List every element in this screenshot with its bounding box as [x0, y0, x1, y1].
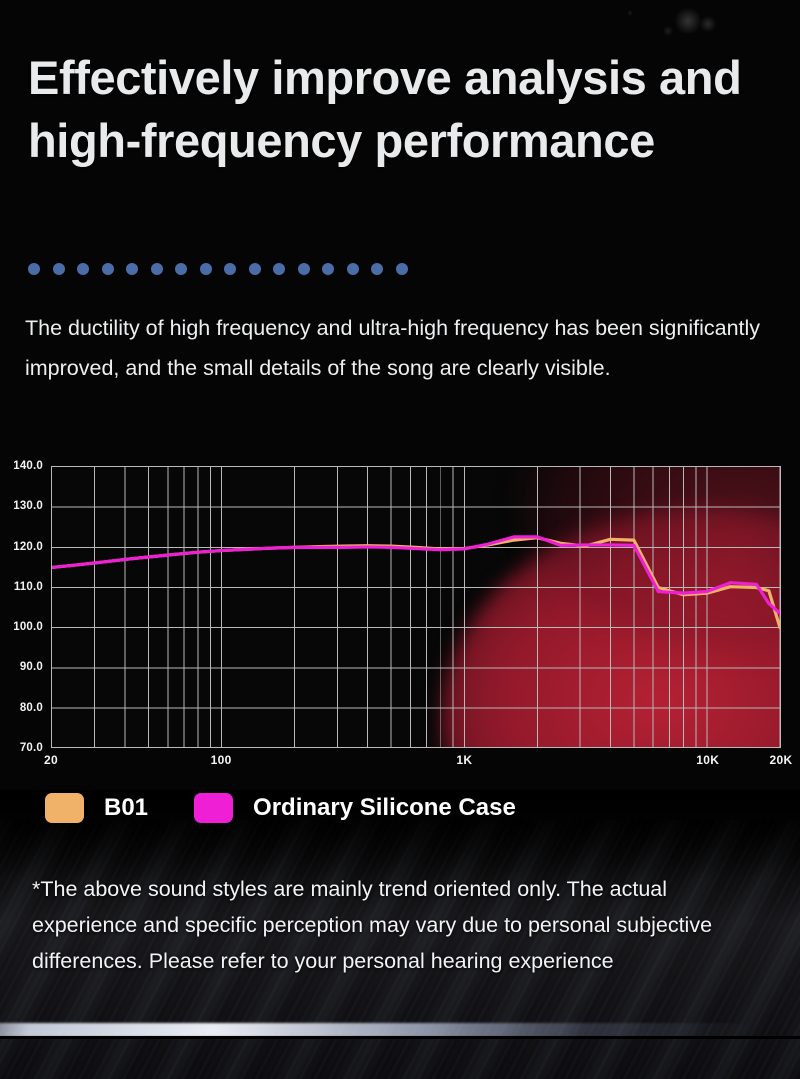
x-axis-tick-label: 10K — [696, 753, 719, 767]
dot-divider — [28, 263, 408, 275]
x-axis-tick-label: 1K — [456, 753, 472, 767]
page-title: Effectively improve analysis and high-fr… — [28, 46, 773, 172]
bokeh-light-icon — [700, 16, 716, 32]
x-axis-tick-label: 20 — [44, 753, 58, 767]
legend-label: Ordinary Silicone Case — [253, 794, 516, 822]
bokeh-light-icon — [663, 26, 673, 36]
divider-dot — [200, 263, 212, 275]
legend-item: Ordinary Silicone Case — [194, 793, 516, 823]
divider-dot — [53, 263, 65, 275]
legend-label: B01 — [104, 794, 148, 822]
divider-dot — [102, 263, 114, 275]
intro-paragraph: The ductility of high frequency and ultr… — [25, 308, 780, 388]
divider-dot — [298, 263, 310, 275]
legend-swatch-ordinary-silicone-case — [194, 793, 233, 823]
frequency-response-chart: 140.0130.0120.0110.0100.090.080.070.0 20… — [0, 450, 800, 780]
series-line-b01 — [52, 538, 780, 628]
divider-dot — [28, 263, 40, 275]
y-axis-tick-label: 70.0 — [0, 742, 43, 754]
divider-dot — [224, 263, 236, 275]
y-axis-tick-label: 80.0 — [0, 702, 43, 714]
divider-dot — [175, 263, 187, 275]
bottom-light-streak — [0, 1023, 800, 1037]
divider-dot — [322, 263, 334, 275]
divider-dot — [151, 263, 163, 275]
divider-dot — [347, 263, 359, 275]
chart-legend: B01Ordinary Silicone Case — [45, 793, 516, 823]
divider-dot — [126, 263, 138, 275]
chart-series-lines — [52, 467, 780, 748]
x-axis-tick-label: 20K — [770, 753, 793, 767]
divider-dot — [249, 263, 261, 275]
legend-item: B01 — [45, 793, 148, 823]
x-axis-tick-label: 100 — [211, 753, 232, 767]
y-axis-tick-label: 110.0 — [0, 581, 43, 593]
y-axis-tick-label: 100.0 — [0, 621, 43, 633]
y-axis-tick-label: 120.0 — [0, 541, 43, 553]
y-axis-tick-label: 130.0 — [0, 500, 43, 512]
bokeh-light-icon — [627, 10, 633, 16]
divider-dot — [371, 263, 383, 275]
divider-dot — [273, 263, 285, 275]
divider-dot — [77, 263, 89, 275]
y-axis-tick-label: 90.0 — [0, 661, 43, 673]
legend-swatch-b01 — [45, 793, 84, 823]
y-axis-tick-label: 140.0 — [0, 460, 43, 472]
series-line-ordinary-silicone-case — [52, 537, 780, 613]
bokeh-light-icon — [675, 8, 701, 34]
divider-dot — [396, 263, 408, 275]
disclaimer-text: *The above sound styles are mainly trend… — [32, 871, 777, 979]
chart-plot-area — [51, 466, 781, 748]
